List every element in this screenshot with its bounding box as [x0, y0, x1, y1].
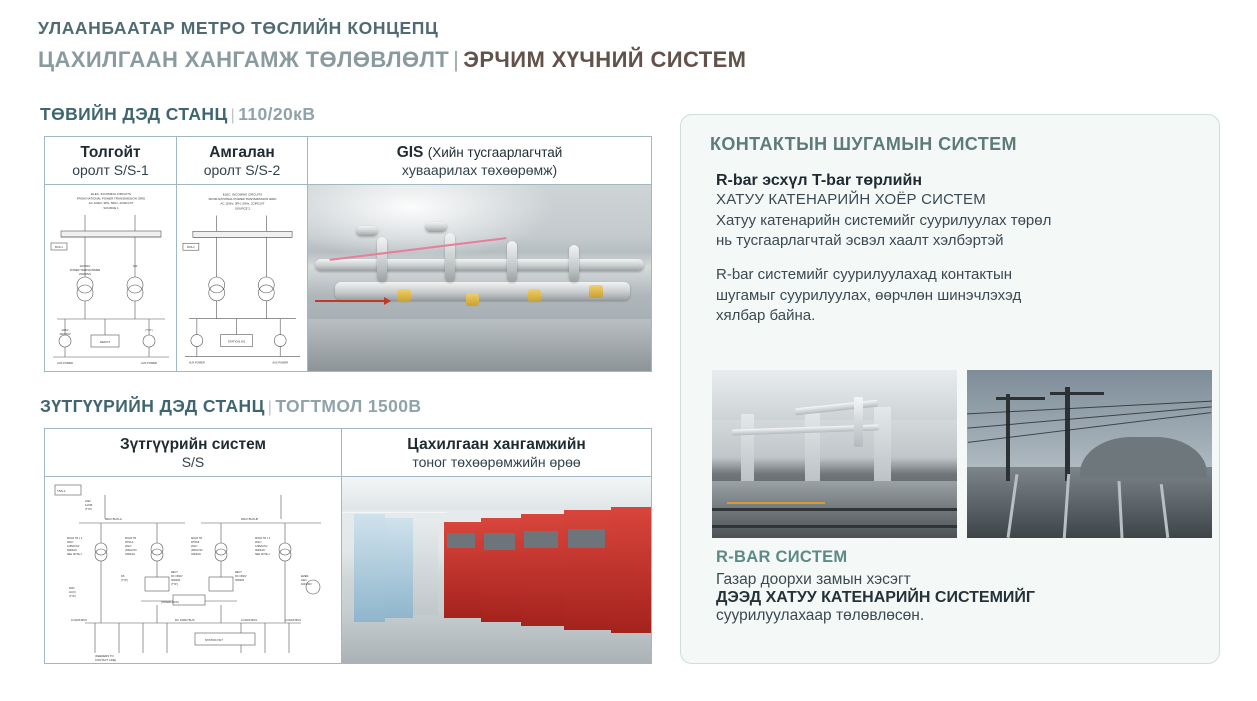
photo-annotation-arrow — [315, 300, 390, 302]
tunnel-track-2 — [712, 508, 957, 511]
rbar-para1-line2: Хатуу катенарийн системийг суурилуулах т… — [716, 211, 1186, 232]
sch3-aux-3: (TYP.) — [69, 595, 76, 598]
sch3-bus-b: 20kV BUS-B — [241, 517, 258, 521]
sch3-emer-1: EMER. — [301, 575, 309, 578]
outdoor-ground — [967, 467, 1212, 538]
sch3-aux-1: 600V — [69, 587, 75, 590]
rbar-para2-line3: хялбар байна. — [716, 306, 1186, 327]
sch3-mtr1-1: MOLD TR x 3 — [67, 537, 83, 540]
cell-gis-subtitle: хуваарилах төхөөрөмж) — [314, 162, 645, 180]
tunnel-amber-light — [727, 502, 825, 504]
sch3-mtr4-5: SEE NOTE.1 — [255, 553, 270, 556]
sch1-tr-2: POWER TRANSFORMER — [70, 268, 101, 272]
sch1-note-1: ELEC. INCOMING CIRCUITS — [91, 192, 131, 196]
cell-traction-header: Зүтгүүрийн систем S/S — [45, 429, 341, 477]
section-2-title-main: ЗҮТГҮҮРИЙН ДЭД СТАНЦ — [40, 396, 265, 416]
rbar-footer-line1: Газар доорхи замын хэсэгт — [716, 571, 1186, 589]
room-meter-panel-1 — [447, 533, 475, 548]
schematic-1-body: ELEC. INCOMING CIRCUITS FROM NATIONAL PO… — [45, 185, 176, 371]
catenary-mast-2 — [1065, 387, 1070, 481]
sch3-mtr3-4: (390ACSV — [191, 549, 203, 552]
section-1-title-sub: 110/20кВ — [238, 104, 315, 124]
rbar-tunnel-photo — [712, 370, 957, 538]
sch3-mtr2-1: MOLD TR — [125, 537, 136, 540]
photo-riser-1 — [377, 237, 387, 282]
sch3-station: STATION W7 — [205, 638, 223, 642]
cell-tolgoit-header: Толгойт оролт S/S-1 — [45, 137, 176, 185]
sch3-dc-bus: DC 1500V BUS — [175, 618, 195, 622]
photo-floor — [308, 319, 651, 371]
slide-header: УЛААНБААТАР МЕТРО ТӨСЛИЙН КОНЦЕПЦ ЦАХИЛГ… — [38, 18, 746, 73]
sch3-interlock: (INTERLOCK) — [161, 600, 179, 604]
contact-line-card-title: КОНТАКТЫН ШУГАМЫН СИСТЕМ — [710, 134, 1017, 155]
sch3-mtr1-5: SEE NOTE.1 — [67, 553, 82, 556]
sch3-rect1-1: RECT — [171, 571, 178, 574]
photo-yellow-marker-3 — [528, 289, 542, 302]
gis-switchgear-photo — [308, 185, 651, 371]
sch3-mtr3-2: RTIR-B — [191, 541, 200, 544]
header-separator: | — [449, 47, 463, 72]
schematic-3-diagram: TSS-1 22kV 1/2CB (TYP.) 20kV BUS-A 20kV … — [45, 477, 341, 663]
sch2-note-3: AC 110kV, 3PH, 50Hz, 2CIRCUIT — [220, 202, 264, 206]
rbar-para2-line1: R-bar системийг суурилуулахад контактын — [716, 265, 1186, 286]
tunnel-column-1 — [741, 414, 753, 488]
header-subtitle-right: ЭРЧИМ ХҮЧНИЙ СИСТЕМ — [463, 47, 746, 72]
sch3-bus-a: 20kV BUS-A — [105, 517, 122, 521]
cell-gis-header: GIS (Хийн тусгаарлагчтай хуваарилах төхө… — [308, 137, 651, 185]
photo-riser-4 — [569, 245, 579, 282]
sch1-tr-1: 110/20kV — [80, 264, 91, 268]
sch3-loads-2: LOADS BUS — [241, 618, 257, 622]
photo-yellow-marker-1 — [397, 289, 411, 302]
sch3-mtr3-3: 20kV/ — [191, 545, 198, 548]
sch1-box-label: DEPOT — [100, 340, 111, 344]
rbar-para1-line1: ХАТУУ КАТЕНАРИЙН ХОЁР СИСТЕМ — [716, 190, 1186, 211]
photo-yellow-marker-2 — [466, 293, 480, 306]
tunnel-track-1 — [712, 525, 957, 528]
room-meter-panel-3 — [524, 531, 558, 548]
cell-gis-photo-body — [308, 185, 651, 371]
sch3-mtr2-5: 3300kVA — [125, 553, 135, 556]
sch1-note-4: SOURCE 1 — [103, 206, 119, 210]
section-1-title-bar: | — [228, 107, 239, 124]
sch3-aux-2: AC(X) — [69, 591, 76, 594]
sch3-rect2-1: RECT — [235, 571, 242, 574]
sch3-bottom-2: CONTACT LINE) — [95, 658, 116, 662]
header-line-1: УЛААНБААТАР МЕТРО ТӨСЛИЙН КОНЦЕПЦ — [38, 18, 746, 39]
paragraph-spacer — [716, 252, 1186, 265]
cell-traction-subtitle: S/S — [51, 454, 335, 472]
sch3-ds-2: (TYP.) — [121, 579, 128, 582]
sch3-inc-1: 22kV — [85, 499, 91, 503]
sch3-mtr3-5: 3300kVA — [191, 553, 201, 556]
sch1-feeder-1: 110kV — [61, 328, 68, 332]
photo-riser-2 — [445, 233, 455, 281]
rbar-footer-line2: ДЭЭД ХАТУУ КАТЕНАРИЙН СИСТЕМИЙГ — [716, 589, 1186, 607]
sch3-inc-2: 1/2CB — [85, 503, 92, 507]
sch2-note-2: FROM NATIONAL POWER TRANSMISSION GRID — [209, 197, 277, 201]
rbar-hanger — [854, 397, 863, 447]
section-1-panel: Толгойт оролт S/S-1 — [44, 136, 652, 372]
catenary-outdoor-photo — [967, 370, 1212, 538]
sch3-inc-3: (TYP.) — [85, 507, 92, 511]
sch3-ds-1: DS — [121, 575, 125, 578]
schematic-2-body: ELEC. INCOMING CIRCUITS FROM NATIONAL PO… — [177, 185, 307, 371]
rbar-footer-title: R-BAR СИСТЕМ — [716, 548, 1186, 567]
cell-amgalan-header: Амгалан оролт S/S-2 — [177, 137, 307, 185]
room-grey-cabinet-1 — [413, 522, 438, 615]
schematic-1-diagram: ELEC. INCOMING CIRCUITS FROM NATIONAL PO… — [45, 185, 176, 371]
sch1-note-3: AC 110kV, 3PH, 50Hz, 2CIRCUIT — [89, 201, 134, 205]
rbar-heading: R-bar эсхүл T-bar төрлийн — [716, 172, 1186, 190]
rbar-footer: R-BAR СИСТЕМ Газар доорхи замын хэсэгт Д… — [716, 548, 1186, 625]
cell-gis-title-main: GIS — [397, 144, 424, 161]
sch2-note-4: SOURCE 2 — [235, 207, 251, 211]
sch3-mtr2-2: RTIR-A — [125, 541, 134, 544]
contact-line-photo-row — [712, 370, 1212, 538]
sch2-note-1: ELEC. INCOMING CIRCUITS — [223, 193, 262, 197]
sch1-bottom-left: AUX.POWER — [57, 361, 73, 365]
sch3-mtr1-4: 3900kVA — [67, 549, 77, 552]
sch2-box-label: STATION W1 — [228, 340, 246, 344]
room-meter-panel-2 — [484, 533, 515, 550]
sch3-emer-3: 400/230V — [301, 583, 312, 586]
cell-gis-title: GIS (Хийн тусгаарлагчтай — [314, 143, 645, 162]
cell-amgalan: Амгалан оролт S/S-2 — [176, 137, 307, 371]
header-subtitle-left: ЦАХИЛГААН ХАНГАМЖ ТӨЛӨВЛӨЛТ — [38, 47, 449, 72]
cell-amgalan-title: Амгалан — [183, 143, 301, 162]
sch1-note-2: FROM NATIONAL POWER TRANSMISSION GRID — [77, 197, 146, 201]
cell-electrical-room-title: Цахилгаан хангамжийн — [348, 435, 645, 454]
sch3-mtr2-4: (390ACSV — [125, 549, 137, 552]
room-ceiling — [342, 477, 651, 510]
room-blue-cabinet-2 — [385, 518, 413, 618]
sch1-bus-label: BUS-1 — [55, 245, 63, 249]
photo-yellow-marker-4 — [589, 285, 603, 298]
cell-gis-title-suffix: (Хийн тусгаарлагчтай — [428, 145, 563, 160]
photo-bushing-1 — [356, 226, 378, 236]
section-2-title-sub: ТОГТМОЛ 1500В — [275, 396, 421, 416]
section-2-panel: Зүтгүүрийн систем S/S — [44, 428, 652, 664]
sch1-bottom-right: AUX.POWER — [141, 361, 157, 365]
schematic-3-body: TSS-1 22kV 1/2CB (TYP.) 20kV BUS-A 20kV … — [45, 477, 341, 663]
rbar-para1-line3: нь тусгаарлагчтай эсвэл хаалт хэлбэртэй — [716, 231, 1186, 252]
sch3-tss-label: TSS-1 — [57, 489, 66, 493]
sch3-rect1-2: DC 1500V — [171, 575, 183, 578]
photo-annotation-line — [329, 237, 506, 260]
sch3-mtr4-1: MOLD TR x 3 — [255, 537, 271, 540]
tunnel-column-2 — [805, 410, 820, 487]
cell-gis: GIS (Хийн тусгаарлагчтай хуваарилах төхө… — [307, 137, 651, 371]
cell-amgalan-subtitle: оролт S/S-2 — [183, 162, 301, 180]
cell-traction-system: Зүтгүүрийн систем S/S — [45, 429, 341, 663]
sch2-bottom-left: AUX.POWER — [189, 360, 205, 364]
room-meter-panel-4 — [568, 529, 605, 548]
sch3-rect2-2: DC 1500V — [235, 575, 247, 578]
cell-tolgoit: Толгойт оролт S/S-1 — [45, 137, 176, 371]
schematic-2-diagram: ELEC. INCOMING CIRCUITS FROM NATIONAL PO… — [177, 185, 307, 371]
catenary-crossarm-1 — [996, 397, 1045, 400]
sch3-mtr1-3: 1295ACSV — [67, 545, 80, 548]
sch3-mtr4-2: 20kV/ — [255, 541, 262, 544]
cell-tolgoit-subtitle: оролт S/S-1 — [51, 162, 170, 180]
rbar-footer-line3: суурилуулахаар төлөвлөсөн. — [716, 607, 1186, 625]
photo-pipe-main — [315, 259, 644, 271]
sch3-mtr4-4: 3900kVA — [255, 549, 265, 552]
cell-electrical-room: Цахилгаан хангамжийн тоног төхөөрөмжийн … — [341, 429, 651, 663]
sch3-mtr1-2: 20kV/ — [67, 541, 74, 544]
sch2-bus-label: BUS-2 — [187, 245, 195, 249]
sch3-rect2-3: 3000kW — [235, 579, 245, 582]
sch3-mtr2-3: 20kV/ — [125, 545, 132, 548]
section-2-title-bar: | — [265, 399, 276, 416]
room-wall-line — [342, 512, 447, 513]
tunnel-column-3 — [874, 407, 891, 488]
sch3-rect1-3: 3000kW — [171, 579, 181, 582]
sch3-rect1-4: (TYP.) — [171, 583, 178, 586]
sch3-mtr3-1: MOLD TR — [191, 537, 202, 540]
sch3-loads-3: LOADS BUS — [285, 618, 301, 622]
rbar-para2-line2: шугамыг суурилуулах, өөрчлөн шинэчлэхэд — [716, 286, 1186, 307]
section-2-title: ЗҮТГҮҮРИЙН ДЭД СТАНЦ|ТОГТМОЛ 1500В — [40, 396, 421, 417]
sch3-loads-1: LOADS BUS — [71, 618, 87, 622]
photo-riser-3 — [507, 241, 517, 282]
electrical-room-photo — [342, 477, 651, 663]
sch1-tr-3: 20/25MVA — [79, 272, 91, 276]
sch3-mtr4-3: 1295ACSV — [255, 545, 268, 548]
sch1-gis-label: GIS — [133, 264, 138, 268]
sch1-feeder-3: (TYP.) — [145, 328, 152, 332]
slide: УЛААНБААТАР МЕТРО ТӨСЛИЙН КОНЦЕПЦ ЦАХИЛГ… — [0, 0, 1257, 701]
header-line-2: ЦАХИЛГААН ХАНГАМЖ ТӨЛӨВЛӨЛТ|ЭРЧИМ ХҮЧНИЙ… — [38, 47, 746, 73]
cell-traction-title: Зүтгүүрийн систем — [51, 435, 335, 454]
sch1-feeder-2: 400/230V — [59, 332, 70, 336]
section-1-title: ТӨВИЙН ДЭД СТАНЦ|110/20кВ — [40, 104, 315, 125]
sch2-bottom-right: AUX.POWER — [272, 360, 288, 364]
sch3-emer-2: GEN. — [301, 579, 307, 582]
cell-electrical-room-subtitle: тоног төхөөрөмжийн өрөө — [348, 454, 645, 472]
cell-electrical-room-header: Цахилгаан хангамжийн тоног төхөөрөмжийн … — [342, 429, 651, 477]
room-blue-cabinet-1 — [354, 514, 385, 622]
photo-bushing-2 — [425, 222, 447, 232]
section-1-title-main: ТӨВИЙН ДЭД СТАНЦ — [40, 104, 228, 124]
photo-pipe-lower — [335, 282, 630, 300]
room-red-cabinet-5 — [611, 507, 651, 633]
cell-tolgoit-title: Толгойт — [51, 143, 170, 162]
contact-line-card-body: R-bar эсхүл T-bar төрлийн ХАТУУ КАТЕНАРИ… — [716, 172, 1186, 327]
cell-electrical-room-photo-body — [342, 477, 651, 663]
catenary-crossarm-2 — [1050, 392, 1104, 395]
